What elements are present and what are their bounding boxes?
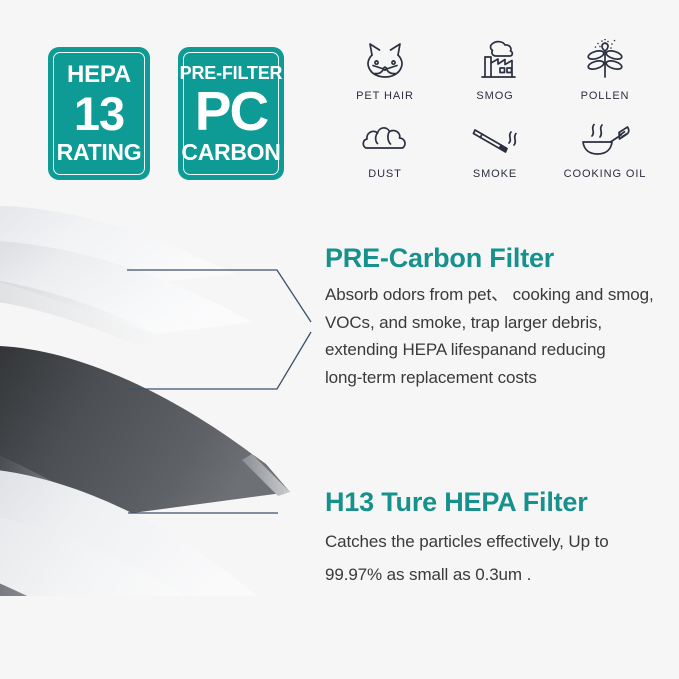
factory-icon [472,38,518,84]
h13-hepa-filter-title: H13 Ture HEPA Filter [325,487,677,518]
pollutant-label: DUST [368,168,402,180]
pollutant-label: POLLEN [581,90,630,102]
h13-hepa-filter-section: H13 Ture HEPA Filter Catches the particl… [325,487,677,591]
description-line: VOCs, and smoke, trap larger debris, [325,309,677,337]
hepa-badge-top-label: HEPA [67,63,131,87]
pollutant-icon-grid: PET HAIR SMOG [330,38,660,194]
carbon-badge-top-label: PRE-FILTER [180,64,283,82]
pollutant-label: PET HAIR [356,90,414,102]
infographic-page: HEPA 13 RATING PRE-FILTER PC CARBON [0,0,679,679]
pollutant-cooking-oil: COOKING OIL [550,116,660,194]
pollutant-label: COOKING OIL [564,168,647,180]
description-line: extending HEPA lifespanand reducing [325,336,677,364]
carbon-badge-bottom-label: CARBON [181,141,280,164]
cat-face-icon [362,38,408,84]
cloud-icon [361,116,409,162]
pollutant-pollen: POLLEN [550,38,660,116]
pre-carbon-filter-title: PRE-Carbon Filter [325,243,677,274]
frying-pan-icon [579,116,631,162]
pre-carbon-filter-section: PRE-Carbon Filter Absorb odors from pet、… [325,243,677,391]
hepa-badge-bottom-label: RATING [57,141,142,164]
pollutant-smoke: SMOKE [440,116,550,194]
h13-hepa-filter-description: Catches the particles effectively, Up to… [325,525,677,591]
description-line: 99.97% as small as 0.3um . [325,558,677,591]
pollutant-dust: DUST [330,116,440,194]
carbon-badge-abbreviation: PC [195,84,267,139]
description-line: Catches the particles effectively, Up to [325,525,677,558]
hepa-badge-rating-value: 13 [74,90,124,137]
description-line: long-term replacement costs [325,364,677,392]
pre-filter-carbon-badge: PRE-FILTER PC CARBON [178,47,284,180]
flower-icon [582,38,628,84]
pollutant-pet-hair: PET HAIR [330,38,440,116]
pollutant-smog: SMOG [440,38,550,116]
filter-layers-illustration [0,196,320,596]
hepa-rating-badge: HEPA 13 RATING [48,47,150,180]
pollutant-label: SMOG [476,90,513,102]
pollutant-label: SMOKE [473,168,517,180]
description-line: Absorb odors from pet、 cooking and smog, [325,281,677,309]
cigarette-icon [471,116,519,162]
pre-carbon-filter-description: Absorb odors from pet、 cooking and smog,… [325,281,677,391]
